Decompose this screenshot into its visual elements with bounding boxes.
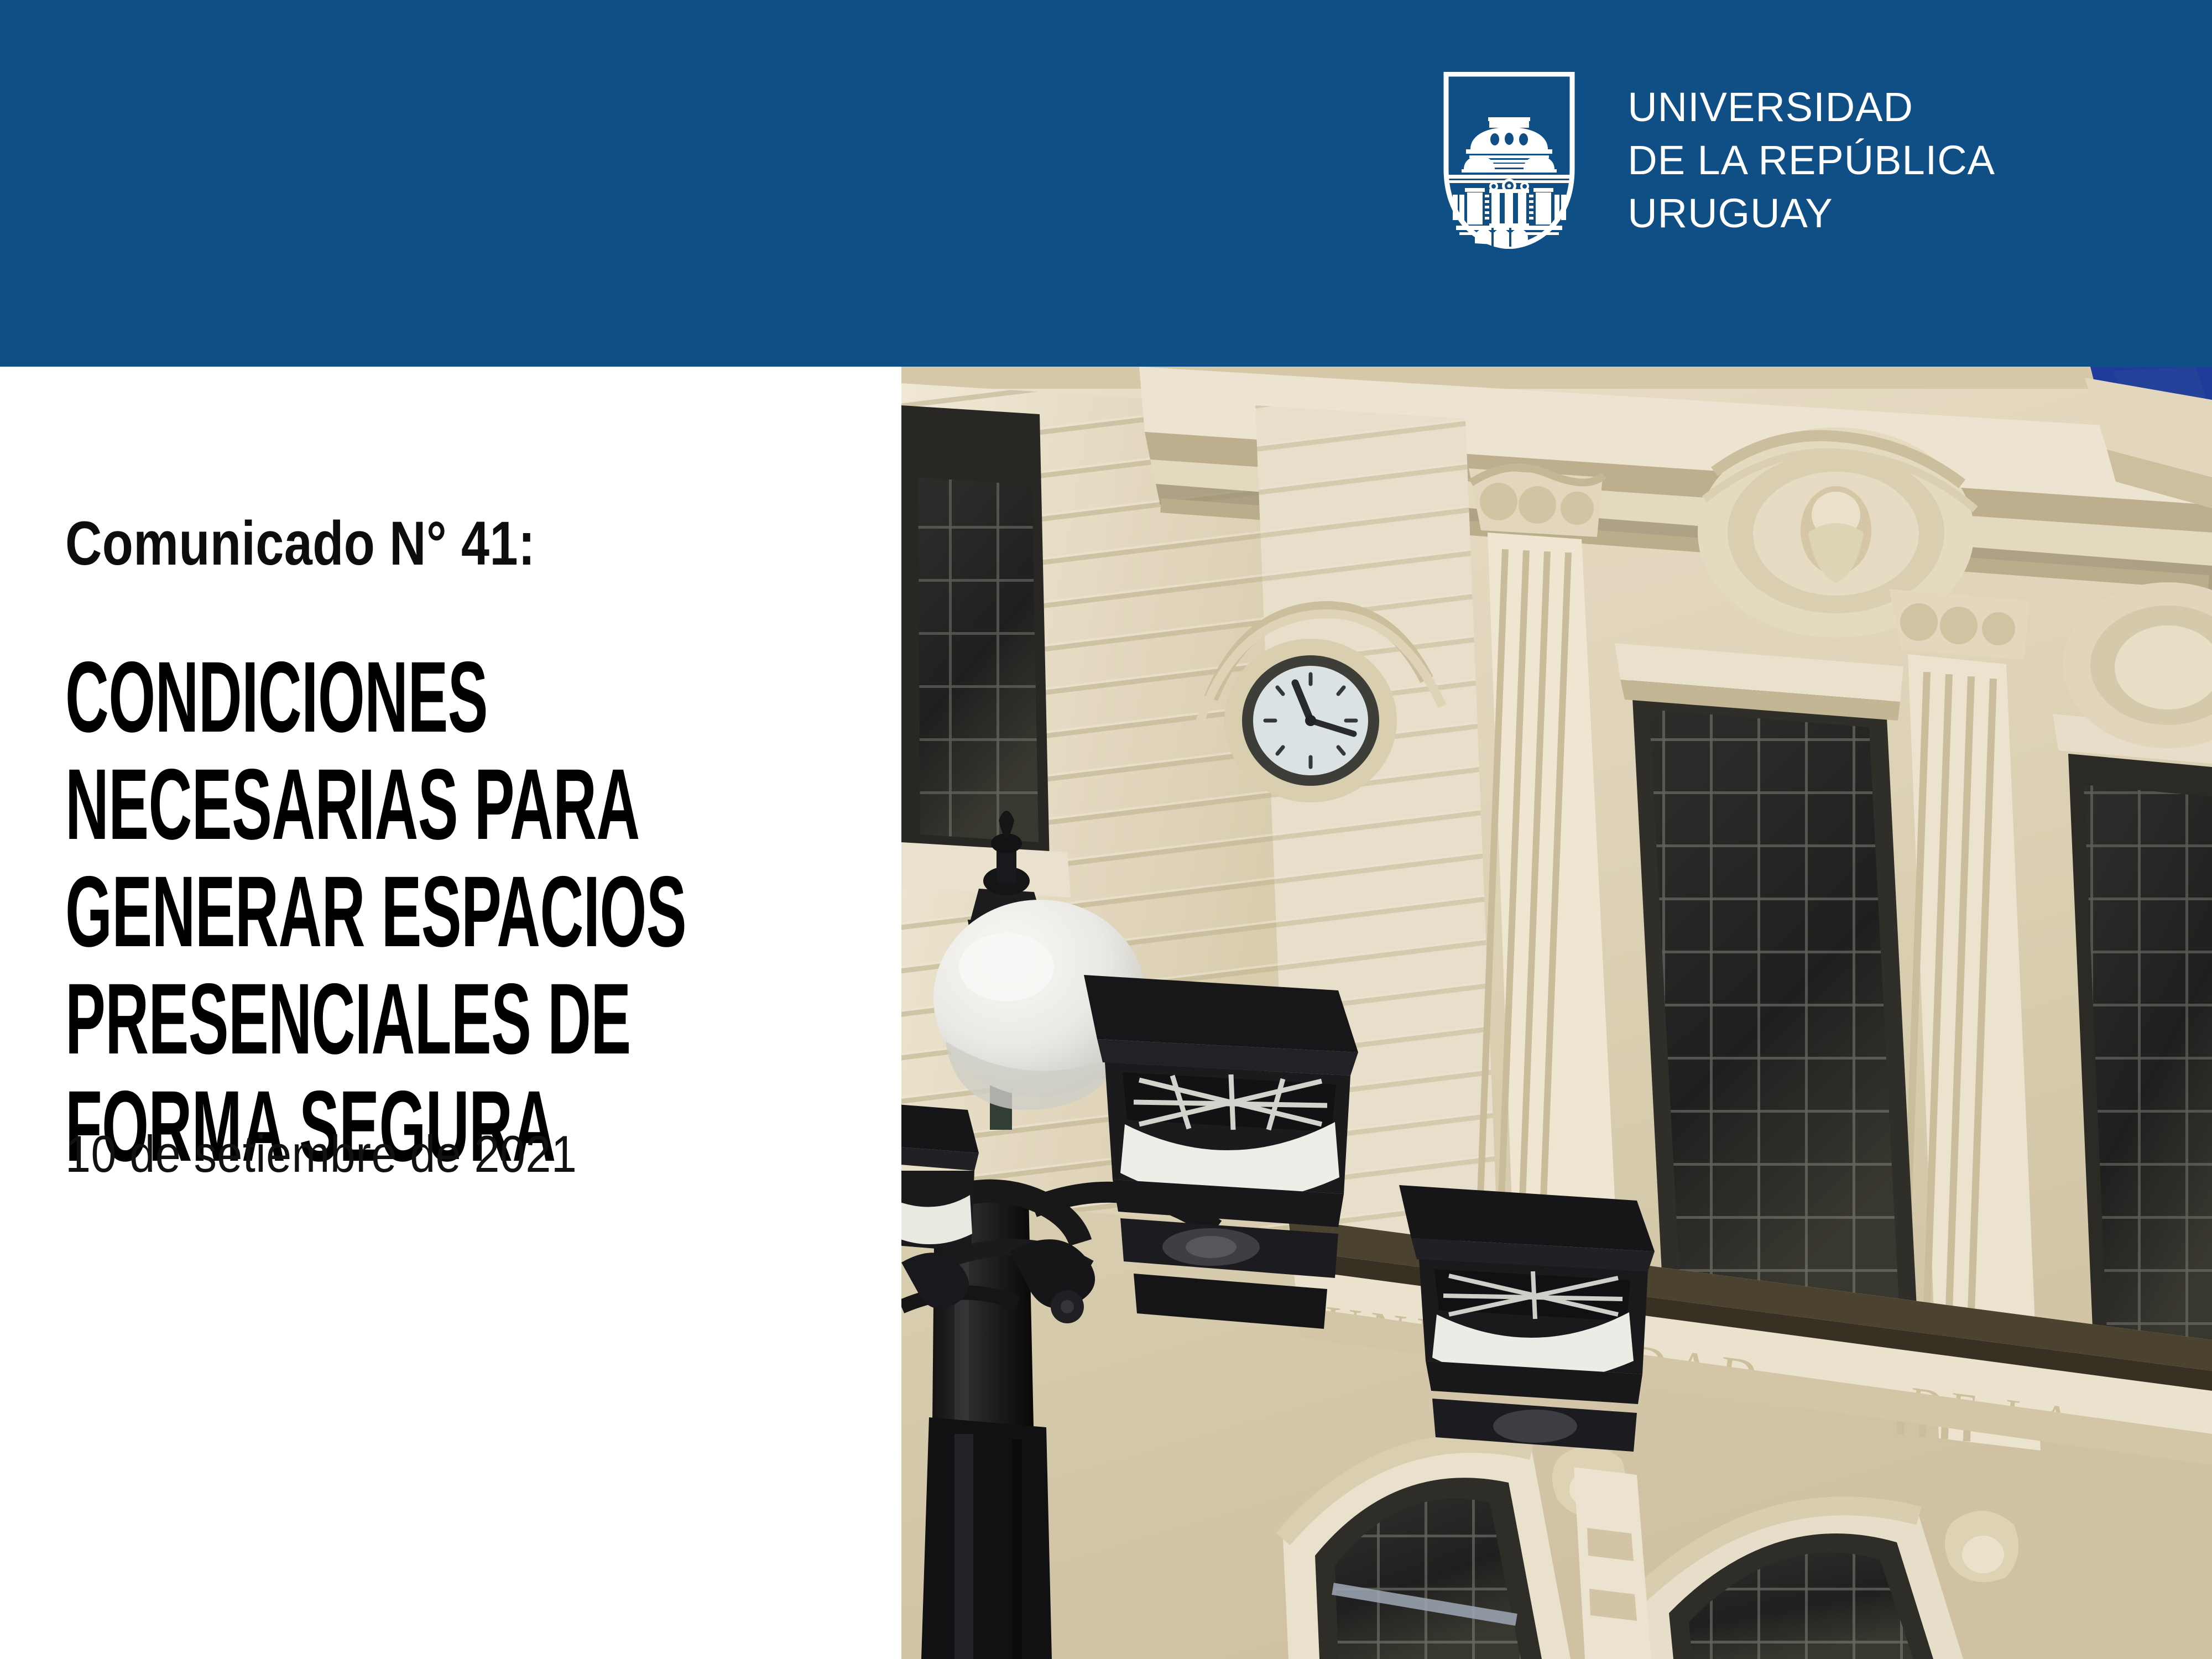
page-title: CONDICIONES NECESARIAS PARA GENERAR ESPA… [65, 643, 884, 1180]
headline-line-1: CONDICIONES [65, 643, 556, 750]
wordmark-line-3: URUGUAY [1627, 187, 1995, 240]
building-photograph: UNIVERSIDAD DE LA [901, 367, 2212, 1659]
headline-line-3: GENERAR ESPACIOS [65, 858, 556, 965]
slide-root: UNIVERSIDAD DE LA [0, 0, 2212, 1659]
headline-line-4: PRESENCIALES DE [65, 965, 556, 1072]
wordmark-line-2: DE LA REPÚBLICA [1627, 134, 1995, 187]
headline-line-2: NECESARIAS PARA [65, 750, 556, 858]
brand-lockup: UNIVERSIDAD DE LA REPÚBLICA URUGUAY [1441, 72, 1995, 249]
text-panel: Comunicado N° 41: CONDICIONES NECESARIAS… [0, 367, 901, 1659]
header-bar: UNIVERSIDAD DE LA REPÚBLICA URUGUAY [0, 0, 2212, 367]
kicker-comunicado: Comunicado N° 41: [65, 508, 535, 579]
facade-illustration: UNIVERSIDAD DE LA [901, 367, 2212, 1659]
publication-date: 10 de setiembre de 2021 [65, 1124, 577, 1184]
wordmark-line-1: UNIVERSIDAD [1627, 81, 1995, 134]
udelar-shield-icon [1441, 72, 1578, 249]
brand-wordmark: UNIVERSIDAD DE LA REPÚBLICA URUGUAY [1627, 72, 1995, 240]
